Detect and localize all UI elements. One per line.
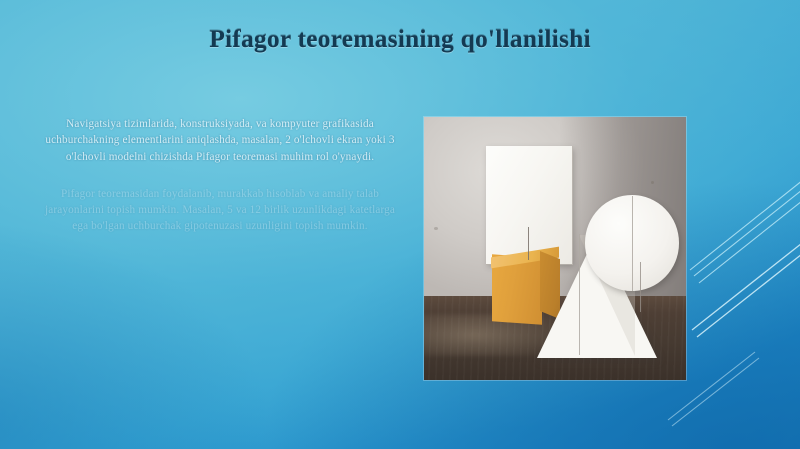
photo-inner	[424, 117, 686, 380]
body-text-block: Navigatsiya tizimlarida, konstruksiyada,…	[44, 116, 396, 235]
paragraph-primary: Navigatsiya tizimlarida, konstruksiyada,…	[44, 116, 396, 165]
support-rod-right	[640, 262, 641, 312]
geometric-shapes-photo	[424, 117, 686, 380]
white-circle-seam	[632, 196, 633, 291]
paragraph-secondary: Pifagor teoremasidan foydalanib, murakka…	[44, 186, 396, 235]
page-title: Pifagor teoremasining qo'llanilishi	[0, 24, 800, 54]
white-triangle-seam	[579, 234, 580, 355]
support-rod-left	[528, 227, 529, 260]
presentation-slide: Pifagor teoremasining qo'llanilishi Navi…	[0, 0, 800, 449]
